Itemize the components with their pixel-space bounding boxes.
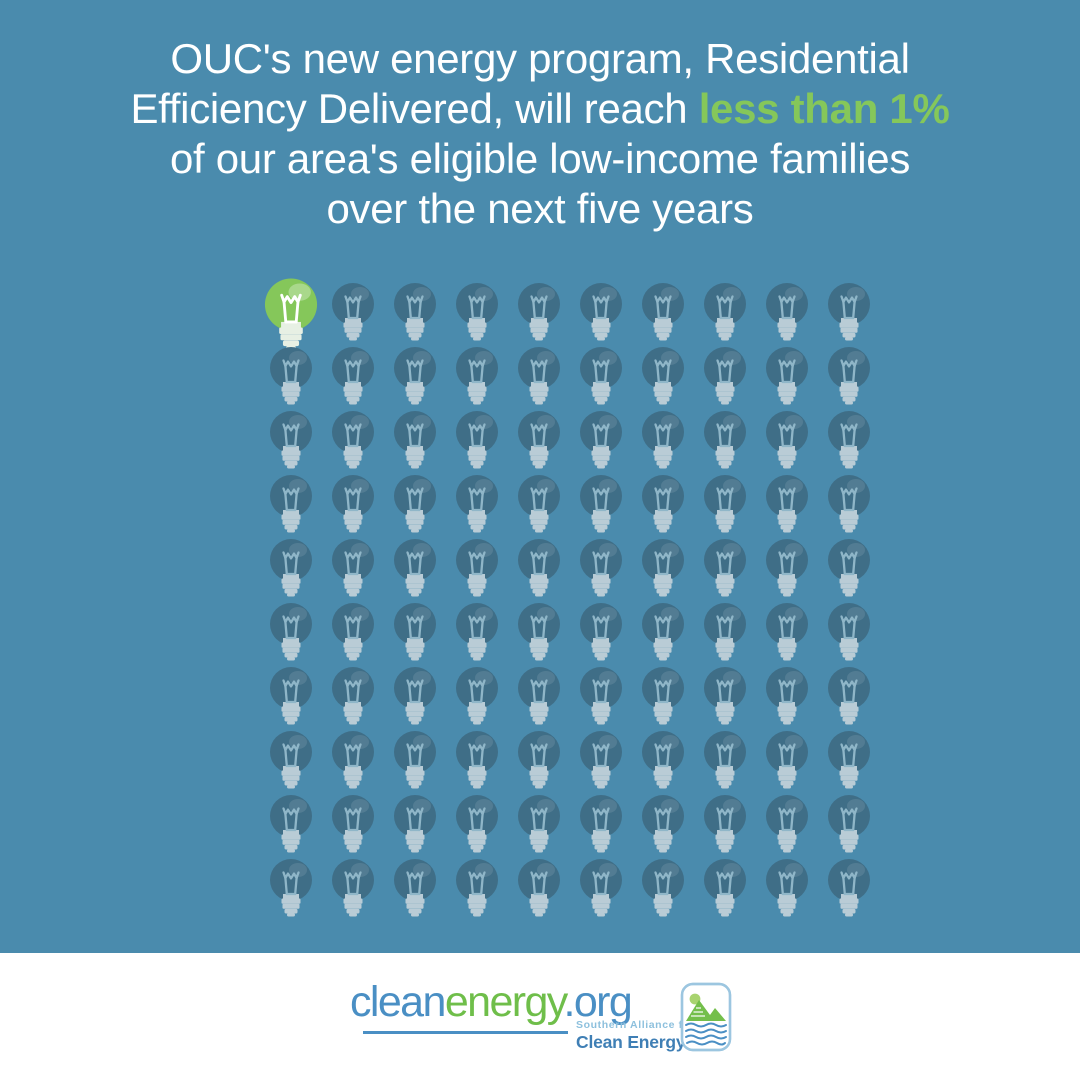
logo-inner: cleanenergy.org Southern Alliance for Cl… xyxy=(350,979,730,1059)
lightbulb-icon xyxy=(696,406,754,470)
lightbulb-icon xyxy=(820,598,878,662)
lightbulb-icon xyxy=(572,726,630,790)
lightbulb-icon xyxy=(572,534,630,598)
lightbulb-icon xyxy=(758,598,816,662)
lightbulb-icon xyxy=(324,726,382,790)
lightbulb-icon xyxy=(386,278,444,342)
lightbulb-icon xyxy=(448,342,506,406)
lightbulb-icon xyxy=(634,662,692,726)
headline-line-4: over the next five years xyxy=(60,184,1020,234)
lightbulb-icon xyxy=(634,406,692,470)
logo-wordmark-energy: energy xyxy=(445,978,564,1026)
lightbulb-icon xyxy=(758,790,816,854)
lightbulb-icon xyxy=(634,342,692,406)
lightbulb-icon xyxy=(820,854,878,918)
lightbulb-icon xyxy=(324,342,382,406)
lightbulb-icon xyxy=(510,662,568,726)
lightbulb-icon xyxy=(510,598,568,662)
lightbulb-icon xyxy=(386,598,444,662)
logo-wordmark-clean: clean xyxy=(350,978,445,1026)
lightbulb-icon xyxy=(634,854,692,918)
lightbulb-icon xyxy=(386,534,444,598)
lightbulb-icon xyxy=(262,406,320,470)
lightbulb-icon xyxy=(448,854,506,918)
lightbulb-icon xyxy=(758,406,816,470)
lightbulb-icon xyxy=(758,470,816,534)
lightbulb-icon xyxy=(448,278,506,342)
lightbulb-icon xyxy=(634,598,692,662)
lightbulb-icon xyxy=(448,726,506,790)
lightbulb-icon xyxy=(324,278,382,342)
lightbulb-icon xyxy=(386,406,444,470)
lightbulb-icon xyxy=(634,790,692,854)
lightbulb-icon xyxy=(386,790,444,854)
lightbulb-icon xyxy=(386,470,444,534)
lightbulb-pictogram-grid xyxy=(262,278,842,918)
lightbulb-icon xyxy=(324,598,382,662)
lightbulb-icon xyxy=(262,598,320,662)
lightbulb-icon xyxy=(820,278,878,342)
cleanenergy-logo[interactable]: cleanenergy.org Southern Alliance for Cl… xyxy=(0,953,1080,1080)
lightbulb-icon xyxy=(262,790,320,854)
logo-divider-rule xyxy=(363,1031,568,1034)
lightbulb-icon xyxy=(448,470,506,534)
lightbulb-icon xyxy=(386,662,444,726)
lightbulb-icon xyxy=(572,470,630,534)
lightbulb-icon xyxy=(572,278,630,342)
lightbulb-icon xyxy=(572,790,630,854)
lightbulb-icon xyxy=(510,790,568,854)
infographic-poster: OUC's new energy program, Residential Ef… xyxy=(0,0,1080,1080)
lightbulb-icon xyxy=(448,790,506,854)
lightbulb-icon xyxy=(572,342,630,406)
lightbulb-icon xyxy=(262,342,320,406)
lightbulb-icon xyxy=(758,726,816,790)
lightbulb-icon xyxy=(696,278,754,342)
lightbulb-icon xyxy=(696,598,754,662)
lightbulb-icon xyxy=(696,534,754,598)
lightbulb-icon xyxy=(510,854,568,918)
lightbulb-icon xyxy=(324,854,382,918)
footer-band: cleanenergy.org Southern Alliance for Cl… xyxy=(0,953,1080,1080)
lightbulb-icon xyxy=(324,790,382,854)
lightbulb-icon-highlighted xyxy=(262,278,320,342)
lightbulb-icon xyxy=(324,470,382,534)
lightbulb-icon xyxy=(448,598,506,662)
lightbulb-icon xyxy=(820,726,878,790)
lightbulb-icon xyxy=(634,278,692,342)
lightbulb-icon xyxy=(758,278,816,342)
lightbulb-icon xyxy=(572,598,630,662)
lightbulb-icon xyxy=(696,470,754,534)
lightbulb-icon xyxy=(572,406,630,470)
lightbulb-icon xyxy=(510,470,568,534)
lightbulb-icon xyxy=(386,726,444,790)
lightbulb-icon xyxy=(572,854,630,918)
lightbulb-icon xyxy=(696,662,754,726)
headline-line-2: Efficiency Delivered, will reach less th… xyxy=(60,84,1020,134)
lightbulb-icon xyxy=(324,534,382,598)
headline-line-1: OUC's new energy program, Residential xyxy=(60,34,1020,84)
lightbulb-icon xyxy=(758,342,816,406)
lightbulb-icon xyxy=(262,534,320,598)
headline-line-2-text: Efficiency Delivered, will reach xyxy=(130,85,698,132)
mountains-sun-water-badge-icon xyxy=(680,982,732,1052)
lightbulb-icon xyxy=(324,662,382,726)
lightbulb-icon xyxy=(324,406,382,470)
lightbulb-icon xyxy=(820,534,878,598)
lightbulb-icon xyxy=(510,406,568,470)
lightbulb-icon xyxy=(448,662,506,726)
lightbulb-icon xyxy=(448,406,506,470)
lightbulb-icon xyxy=(820,790,878,854)
lightbulb-icon xyxy=(820,470,878,534)
lightbulb-icon xyxy=(634,534,692,598)
headline-line-3: of our area's eligible low-income famili… xyxy=(60,134,1020,184)
lightbulb-icon xyxy=(696,790,754,854)
lightbulb-icon xyxy=(572,662,630,726)
lightbulb-icon xyxy=(262,470,320,534)
page-title: OUC's new energy program, Residential Ef… xyxy=(0,34,1080,234)
lightbulb-icon xyxy=(634,726,692,790)
lightbulb-icon xyxy=(820,406,878,470)
lightbulb-icon xyxy=(386,342,444,406)
lightbulb-icon xyxy=(758,854,816,918)
headline-accent-phrase: less than 1% xyxy=(699,85,950,132)
lightbulb-icon xyxy=(696,854,754,918)
lightbulb-icon xyxy=(696,726,754,790)
lightbulb-icon xyxy=(510,726,568,790)
lightbulb-icon xyxy=(448,534,506,598)
lightbulb-icon xyxy=(510,278,568,342)
lightbulb-icon xyxy=(510,342,568,406)
lightbulb-icon xyxy=(634,470,692,534)
lightbulb-icon xyxy=(696,342,754,406)
lightbulb-icon xyxy=(758,534,816,598)
lightbulb-icon xyxy=(820,342,878,406)
lightbulb-icon xyxy=(262,726,320,790)
lightbulb-icon xyxy=(820,662,878,726)
lightbulb-icon xyxy=(262,662,320,726)
lightbulb-icon xyxy=(262,854,320,918)
lightbulb-icon xyxy=(758,662,816,726)
lightbulb-icon xyxy=(386,854,444,918)
lightbulb-icon xyxy=(510,534,568,598)
